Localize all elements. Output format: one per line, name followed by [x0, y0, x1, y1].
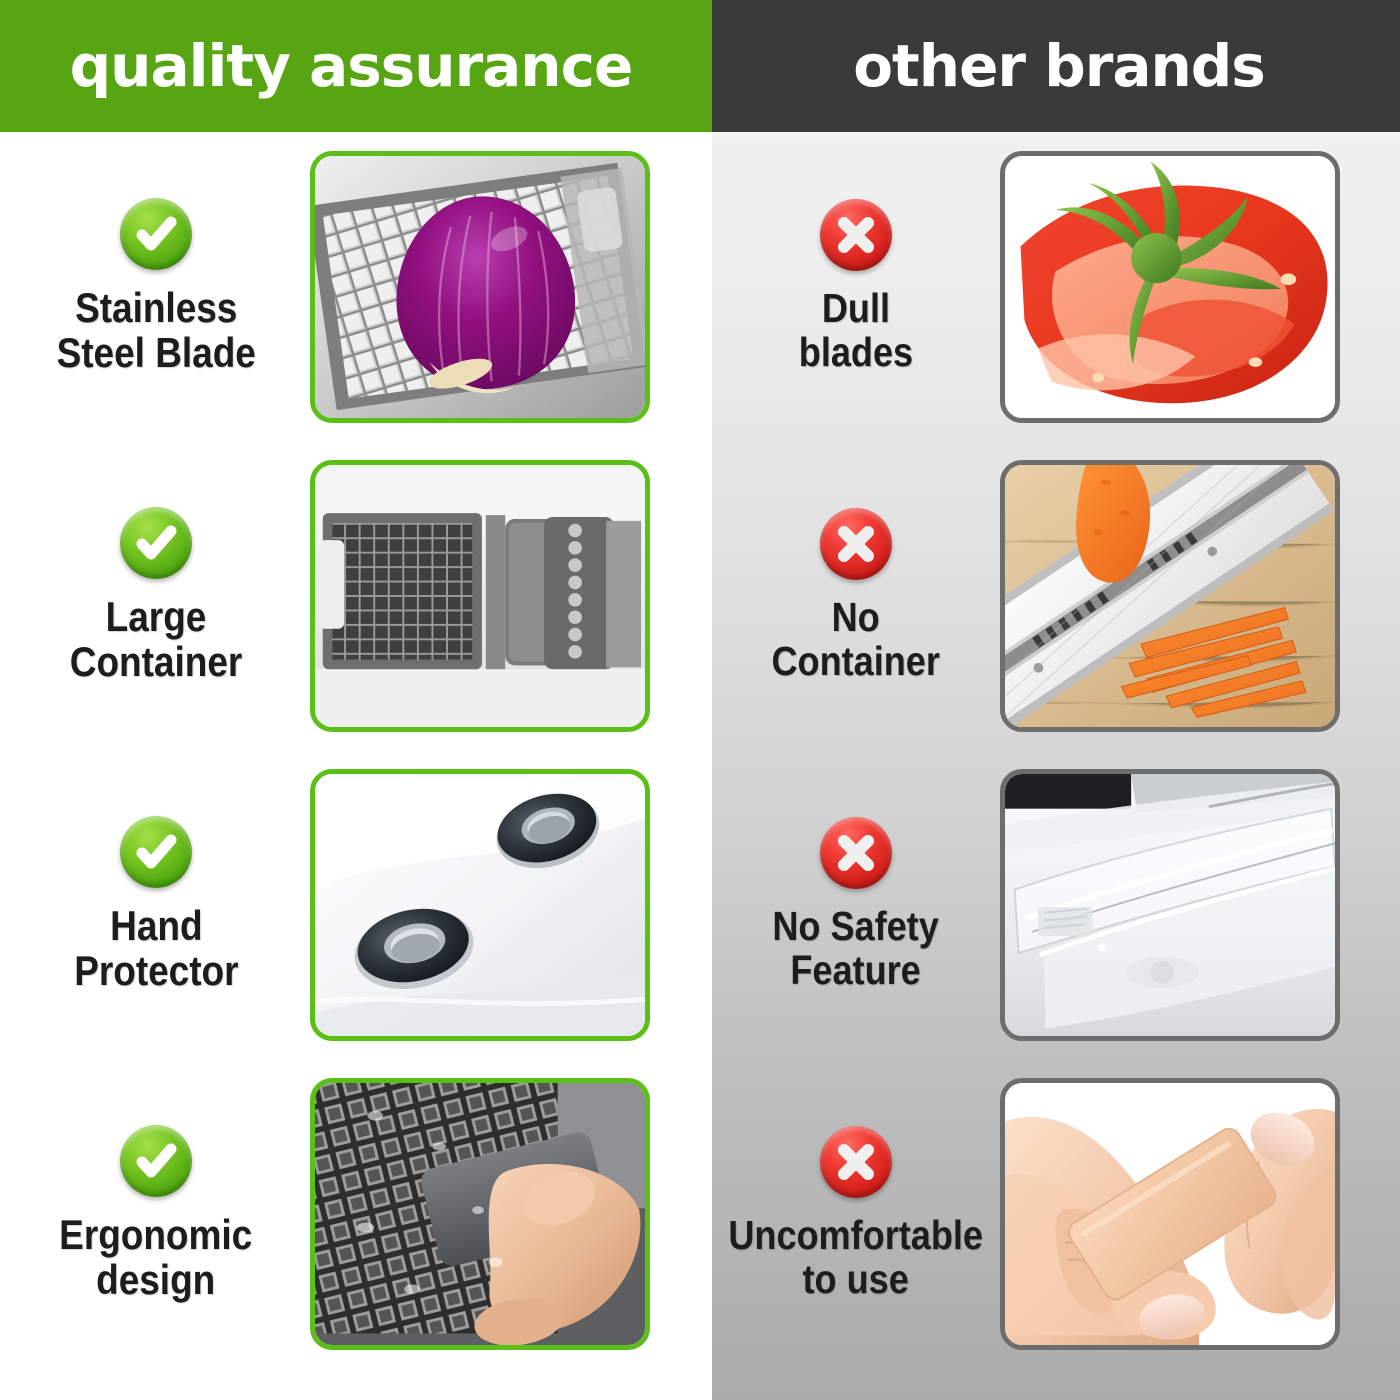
- check-icon: [120, 816, 192, 888]
- drawback-label-cell: Dull blades: [716, 199, 996, 374]
- feature-label: Large Container: [70, 595, 242, 684]
- quality-assurance-title: quality assurance: [70, 37, 643, 95]
- x-icon: [820, 199, 892, 271]
- feature-row: Ergonomic design: [0, 1059, 712, 1368]
- feature-label: Stainless Steel Blade: [56, 286, 255, 375]
- drawback-row: No Container: [712, 441, 1400, 750]
- drawback-photo-mandoline: [1000, 460, 1340, 732]
- check-icon: [120, 507, 192, 579]
- comparison-infographic: quality assurance Stainless Steel Blade: [0, 0, 1400, 1400]
- quality-assurance-header: quality assurance: [0, 0, 712, 132]
- drawback-row: No Safety Feature: [712, 750, 1400, 1059]
- x-icon: [820, 508, 892, 580]
- drawback-label: Dull blades: [799, 287, 913, 374]
- drawback-photo-bandaged-finger: [1000, 1078, 1340, 1350]
- drawback-label: No Container: [772, 596, 940, 683]
- feature-label-cell: Hand Protector: [6, 816, 306, 993]
- x-icon: [820, 1126, 892, 1198]
- feature-photo-onion: [310, 151, 650, 423]
- feature-row: Large Container: [0, 441, 712, 750]
- feature-label: Ergonomic design: [59, 1213, 252, 1302]
- check-icon: [120, 198, 192, 270]
- quality-assurance-column: quality assurance Stainless Steel Blade: [0, 0, 712, 1400]
- drawback-photo-tomato: [1000, 151, 1340, 423]
- other-brands-header: other brands: [712, 0, 1400, 132]
- x-icon: [820, 817, 892, 889]
- feature-photo-hand-protector: [310, 769, 650, 1041]
- drawback-label-cell: No Container: [716, 508, 996, 683]
- quality-assurance-rows: Stainless Steel Blade: [0, 132, 712, 1368]
- feature-label: Hand Protector: [74, 904, 238, 993]
- drawback-row: Dull blades: [712, 132, 1400, 441]
- other-brands-rows: Dull blades: [712, 132, 1400, 1368]
- feature-photo-ergonomic-grip: [310, 1078, 650, 1350]
- drawback-photo-clear-container: [1000, 769, 1340, 1041]
- feature-row: Stainless Steel Blade: [0, 132, 712, 441]
- feature-label-cell: Large Container: [6, 507, 306, 684]
- drawback-label: Uncomfortable to use: [729, 1214, 984, 1301]
- other-brands-title: other brands: [847, 37, 1265, 95]
- drawback-label-cell: No Safety Feature: [716, 817, 996, 992]
- feature-row: Hand Protector: [0, 750, 712, 1059]
- check-icon: [120, 1125, 192, 1197]
- feature-label-cell: Stainless Steel Blade: [6, 198, 306, 375]
- feature-photo-container: [310, 460, 650, 732]
- other-brands-column: other brands Dull blades: [712, 0, 1400, 1400]
- drawback-label-cell: Uncomfortable to use: [716, 1126, 996, 1301]
- feature-label-cell: Ergonomic design: [6, 1125, 306, 1302]
- drawback-row: Uncomfortable to use: [712, 1059, 1400, 1368]
- drawback-label: No Safety Feature: [773, 905, 939, 992]
